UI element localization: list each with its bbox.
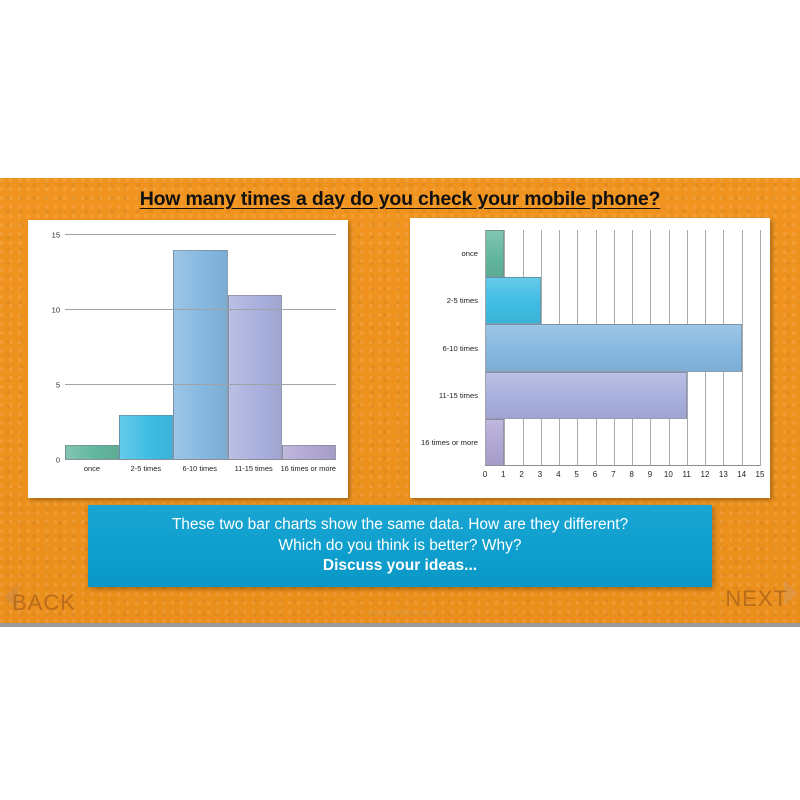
gridline: 5 <box>65 384 336 385</box>
vertical-chart-x-tick-labels: once2-5 times6-10 times11-15 times16 tim… <box>65 464 336 478</box>
bar <box>282 445 336 460</box>
site-url: www.planbee.com <box>0 608 800 617</box>
x-tick-label: 11 <box>683 470 691 479</box>
x-tick-label: 6 <box>593 470 597 479</box>
category-label: 16 times or more <box>410 419 482 466</box>
gridline: 15 <box>65 234 336 235</box>
y-tick-label: 15 <box>52 231 60 240</box>
x-tick-label: once <box>65 464 119 478</box>
category-label: 11-15 times <box>410 372 482 419</box>
bar <box>173 250 227 460</box>
horizontal-bar-0 <box>486 230 760 277</box>
x-tick-label: 4 <box>556 470 560 479</box>
horizontal-bar-chart: once2-5 times6-10 times11-15 times16 tim… <box>410 218 770 498</box>
x-tick-label: 2 <box>519 470 523 479</box>
y-tick-label: 5 <box>56 381 60 390</box>
category-label: 2-5 times <box>410 277 482 324</box>
x-tick-label: 6-10 times <box>173 464 227 478</box>
horizontal-bar-chart-panel: once2-5 times6-10 times11-15 times16 tim… <box>410 218 770 498</box>
vertical-bar-1 <box>119 235 173 460</box>
x-tick-label: 5 <box>574 470 578 479</box>
discussion-line-2: Which do you think is better? Why? <box>279 536 522 557</box>
gridline <box>760 230 761 466</box>
y-tick-label: 10 <box>52 306 60 315</box>
horizontal-bar-4 <box>486 419 760 466</box>
bar <box>486 324 742 371</box>
vertical-chart-plot-area: 051015 <box>65 234 336 460</box>
x-tick-label: 14 <box>737 470 746 479</box>
presentation-slide: How many times a day do you check your m… <box>0 178 800 627</box>
x-tick-label: 2-5 times <box>119 464 173 478</box>
x-tick-label: 11-15 times <box>227 464 281 478</box>
vertical-bar-0 <box>65 235 119 460</box>
vertical-bar-chart-panel: 051015 once2-5 times6-10 times11-15 time… <box>28 220 348 498</box>
horizontal-chart-x-axis <box>485 465 760 466</box>
vertical-bar-2 <box>173 235 227 460</box>
horizontal-chart-x-tick-labels: 0123456789101112131415 <box>485 470 760 484</box>
horizontal-chart-category-labels: once2-5 times6-10 times11-15 times16 tim… <box>410 230 482 466</box>
vertical-bar-series <box>65 235 336 460</box>
bar <box>486 419 504 466</box>
horizontal-bar-2 <box>486 324 760 371</box>
bar <box>228 295 282 460</box>
bar <box>486 277 541 324</box>
vertical-chart-x-axis <box>65 459 336 460</box>
category-label: 6-10 times <box>410 324 482 371</box>
x-tick-label: 10 <box>664 470 673 479</box>
x-tick-label: 0 <box>483 470 487 479</box>
bar <box>486 372 687 419</box>
x-tick-label: 7 <box>611 470 615 479</box>
bar <box>65 445 119 460</box>
category-label: once <box>410 230 482 277</box>
horizontal-bar-series <box>486 230 760 466</box>
x-tick-label: 12 <box>701 470 710 479</box>
bar <box>486 230 504 277</box>
vertical-bar-4 <box>282 235 336 460</box>
y-tick-label: 0 <box>56 456 60 465</box>
page-title: How many times a day do you check your m… <box>0 188 800 211</box>
x-tick-label: 3 <box>538 470 542 479</box>
discussion-line-1: These two bar charts show the same data.… <box>172 515 628 536</box>
x-tick-label: 13 <box>719 470 728 479</box>
x-tick-label: 15 <box>756 470 765 479</box>
discussion-line-3: Discuss your ideas... <box>323 556 477 577</box>
horizontal-bar-3 <box>486 372 760 419</box>
horizontal-bar-1 <box>486 277 760 324</box>
bar <box>119 415 173 460</box>
x-tick-label: 1 <box>501 470 505 479</box>
screenshot-canvas: How many times a day do you check your m… <box>0 0 800 800</box>
x-tick-label: 16 times or more <box>281 464 336 478</box>
x-tick-label: 9 <box>648 470 652 479</box>
horizontal-chart-plot-area <box>485 230 760 466</box>
vertical-bar-chart: 051015 once2-5 times6-10 times11-15 time… <box>28 220 348 498</box>
vertical-bar-3 <box>228 235 282 460</box>
gridline: 10 <box>65 309 336 310</box>
x-tick-label: 8 <box>629 470 633 479</box>
discussion-callout: These two bar charts show the same data.… <box>88 505 712 587</box>
